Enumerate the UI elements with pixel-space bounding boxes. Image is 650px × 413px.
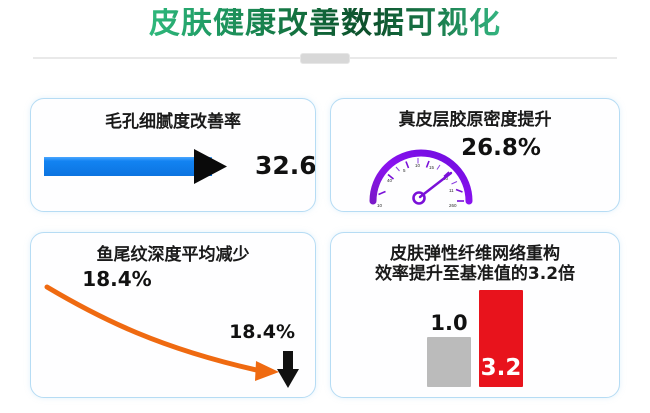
- blue-progress-arrow-icon: [44, 147, 254, 187]
- card-collagen-title: 真皮层胶原密度提升: [331, 110, 619, 130]
- card-pore-improvement[interactable]: 毛孔细腻度改善率 32.6%: [30, 98, 316, 212]
- card-crowsfeet-reduction[interactable]: 鱼尾纹深度平均减少 18.4% 18.4%: [30, 232, 316, 398]
- bar-label-improved: 3.2: [479, 355, 523, 381]
- gauge-icon: 10 40 5 10 15 20 11 260: [363, 139, 479, 211]
- card-elasticity-reconstruction[interactable]: 皮肤弹性纤维网络重构 效率提升至基准值的3.2倍 1.0 3.2: [330, 232, 620, 398]
- card-elasticity-title: 皮肤弹性纤维网络重构 效率提升至基准值的3.2倍: [331, 244, 619, 284]
- bar-label-baseline: 1.0: [430, 311, 467, 335]
- bar-column-improved: 3.2: [479, 290, 523, 387]
- card-crowsfeet-title: 鱼尾纹深度平均减少: [31, 245, 315, 265]
- gauge-tick-label: 15: [429, 165, 435, 170]
- bar-improved: 3.2: [479, 290, 523, 387]
- bar-baseline: [427, 337, 471, 387]
- metric-card-grid: 毛孔细腻度改善率 32.6% 真皮层胶原密度提升 26.8%: [30, 98, 620, 398]
- card-pore-value: 32.6%: [255, 151, 316, 180]
- elasticity-bar-chart: 1.0 3.2: [331, 287, 619, 387]
- gauge-tick-label: 10: [415, 163, 421, 168]
- gauge-tick-label: 11: [449, 188, 454, 193]
- bar-column-baseline: 1.0: [427, 311, 471, 387]
- divider-handle[interactable]: [300, 53, 350, 64]
- card-collagen-density[interactable]: 真皮层胶原密度提升 26.8%: [330, 98, 620, 212]
- card-elasticity-title-line2: 效率提升至基准值的3.2倍: [339, 264, 611, 284]
- page-title: 皮肤健康改善数据可视化: [149, 8, 501, 39]
- gauge-tick-label: 260: [449, 203, 457, 208]
- gauge-tick-label: 5: [403, 168, 406, 173]
- card-elasticity-title-line1: 皮肤弹性纤维网络重构: [339, 244, 611, 264]
- page-header: 皮肤健康改善数据可视化: [0, 0, 650, 46]
- down-arrow-icon: [277, 351, 299, 388]
- card-crowsfeet-end-label: 18.4%: [229, 321, 295, 343]
- card-pore-title: 毛孔细腻度改善率: [31, 112, 315, 132]
- gauge-tick-label: 10: [377, 203, 383, 208]
- gauge-tick-label: 40: [387, 178, 393, 183]
